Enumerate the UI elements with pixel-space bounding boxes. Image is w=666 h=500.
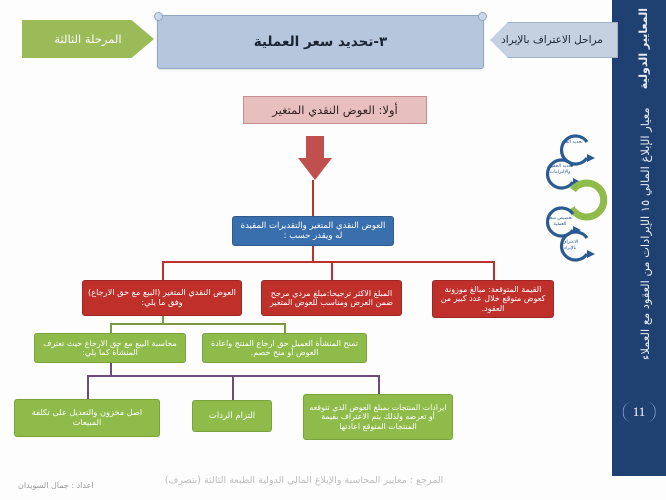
connector-root-down [312,246,314,262]
right-sidebar: المعايير الدولية معيار الإبلاغ المالي ١٥… [612,0,666,476]
connector-arrow-to-root [312,180,314,216]
slide-canvas: المعايير الدولية معيار الإبلاغ المالي ١٥… [0,0,666,500]
node-root-variable-consideration: العوض النقدي المتغير والتقديرات المقيدة … [232,216,394,246]
cycle-step-4-label: تخصيص سعر العملية [535,216,585,227]
footer-author: اعداد : جمال السويدان [18,481,94,490]
page-number: 11 [623,402,656,422]
five-step-cycle-diagram: تحديد العقد تحديد الحقوق والالتزامات تحد… [527,128,617,262]
connector-red-1 [162,261,164,280]
node-red-most-likely-amount: المبلغ الاكثر ترجيحا:مبلغ مردي مرجح ضمن … [261,280,402,316]
connector-red-2 [331,261,333,280]
cycle-step-5-label: الاعتراف بالإيراد [545,240,595,251]
down-arrow-icon [298,136,332,180]
connector-green-mid-bus [110,323,285,325]
cycle-step-3-label: تحديد سعر العملية [540,192,590,203]
connector-red-bus [162,261,494,263]
connector-green-mid-1 [110,323,112,333]
connector-green-bottom-3 [378,375,380,394]
node-green-refund-liability: التزام الردات [192,400,272,432]
node-red-expected-value: القيمة المتوقعة: مبالغ موزونة كعوض متوقع… [432,280,554,318]
topic-chevron-label: مراحل الاعتراف بالإيراد [490,22,618,58]
slide-title: ٣-تحديد سعر العملية [157,15,484,69]
connector-greenmid-down [110,363,112,375]
connector-green-mid-2 [284,323,286,333]
node-green-product-revenue: ايرادات المنتجات بمبلغ العوض الذي تتوقعه… [303,394,453,440]
cycle-step-1-label: تحديد العقد [547,140,597,146]
sidebar-standard-label: معيار الإبلاغ المالي ١٥ الإيرادات من الع… [638,108,652,358]
connector-green-bottom-2 [232,375,234,400]
connector-red-3 [493,261,495,280]
node-red-right-of-return: العوض النقدي المتغير (البيع مع حق الارجا… [82,280,242,316]
connector-green-bottom-1 [87,375,89,399]
connector-red1-down [162,316,164,323]
node-green-accounting-return: محاسبة البيع مع حق الارجاع حيث تعترف الم… [34,333,186,363]
node-green-inventory-asset: اصل مخزون والتعديل على تكلفة المبيعات [14,399,160,437]
stage-chevron-label: المرحلة الثالثة [22,20,154,58]
arrow-shaft [306,136,324,160]
cycle-step-2-label: تحديد الحقوق والالتزامات [535,164,585,175]
subtitle-box: أولا: العوض النقدي المتغير [243,96,427,124]
node-green-customer-return-right: تمنح المنشأة العميل حق ارجاع المنتج واعا… [202,333,367,363]
arrow-head [298,158,332,180]
sidebar-top-label: المعايير الدولية [637,8,650,89]
